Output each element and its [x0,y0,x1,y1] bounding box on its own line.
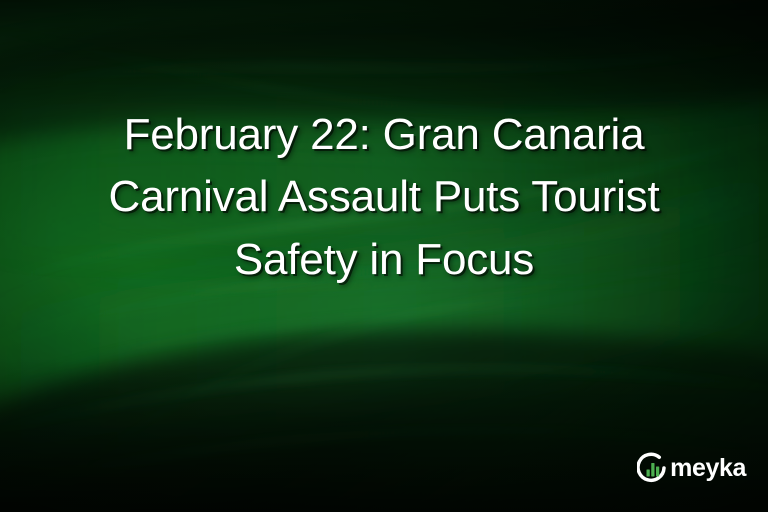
news-card: February 22: Gran Canaria Carnival Assau… [0,0,768,512]
brand-logo[interactable]: meyka [637,452,746,484]
headline-container: February 22: Gran Canaria Carnival Assau… [0,104,768,291]
page-title: February 22: Gran Canaria Carnival Assau… [54,104,714,291]
circle-bar-chart-icon [637,452,669,484]
brand-wordmark: meyka [670,456,746,481]
